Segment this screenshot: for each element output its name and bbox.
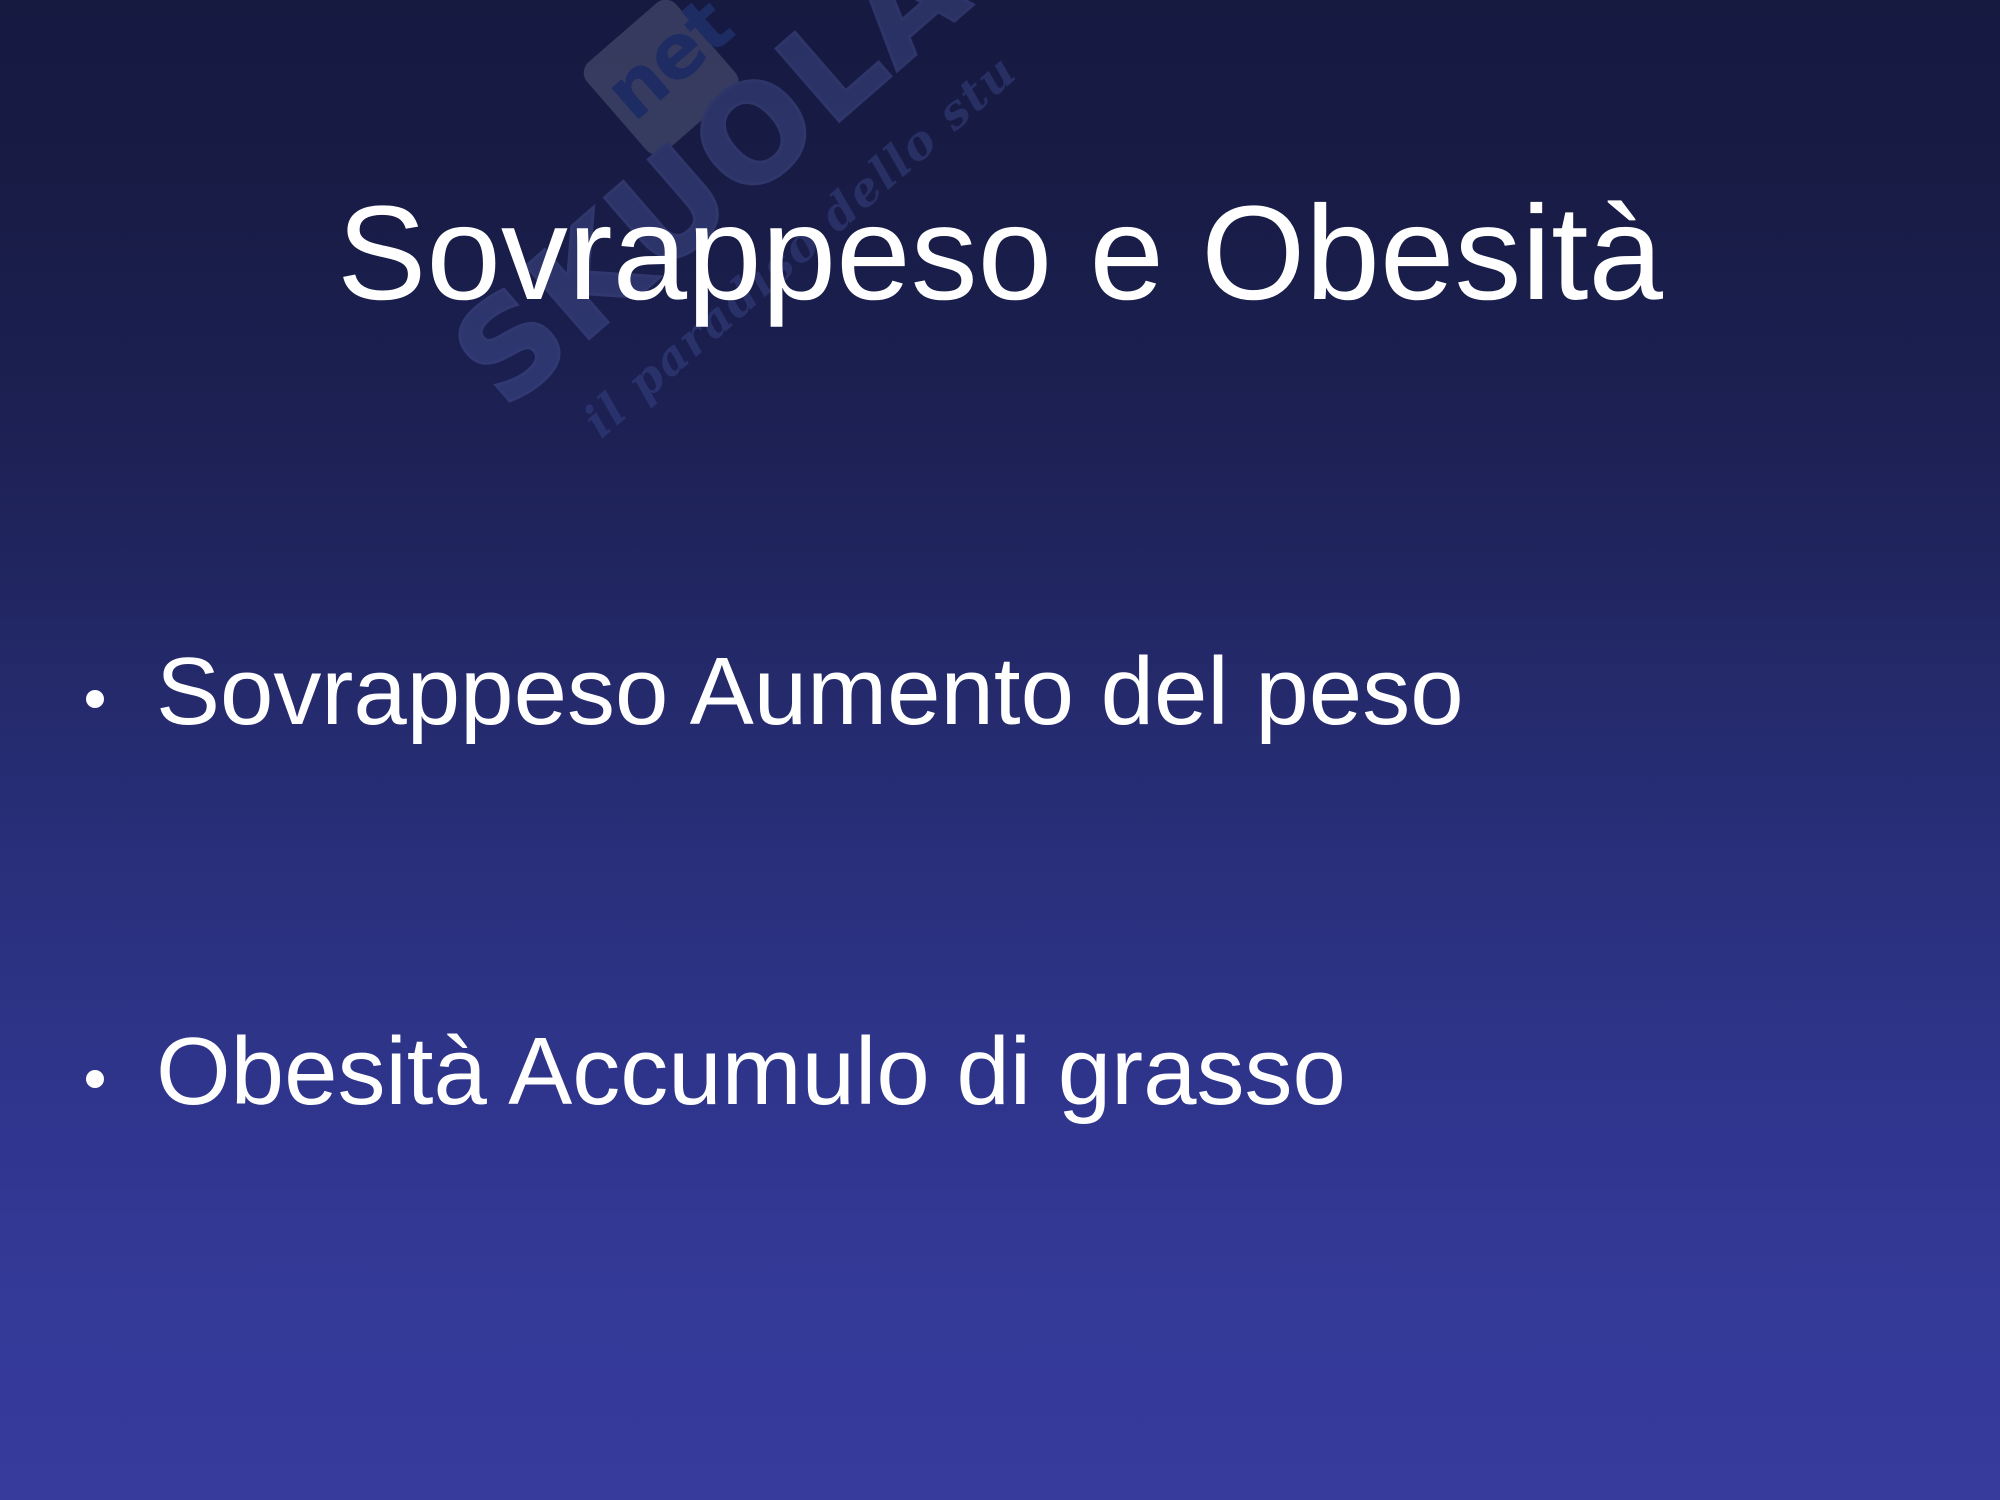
bullet-dot-icon — [72, 1020, 156, 1124]
bullet-text: Sovrappeso Aumento del peso — [156, 640, 1932, 744]
slide-title: Sovrappeso e Obesità — [0, 182, 2000, 327]
list-item: Obesità Accumulo di grasso — [72, 1020, 1932, 1124]
bullet-dot-icon — [72, 640, 156, 744]
watermark-net-label: net — [592, 3, 725, 133]
bullet-text: Obesità Accumulo di grasso — [156, 1020, 1932, 1124]
slide-bullet-list: Sovrappeso Aumento del peso Obesità Accu… — [72, 640, 1932, 1400]
watermark-badge-icon — [578, 0, 744, 160]
presentation-slide: net SKUOLA il paradiso dello stu Sovrapp… — [0, 0, 2000, 1500]
list-item: Sovrappeso Aumento del peso — [72, 640, 1932, 744]
